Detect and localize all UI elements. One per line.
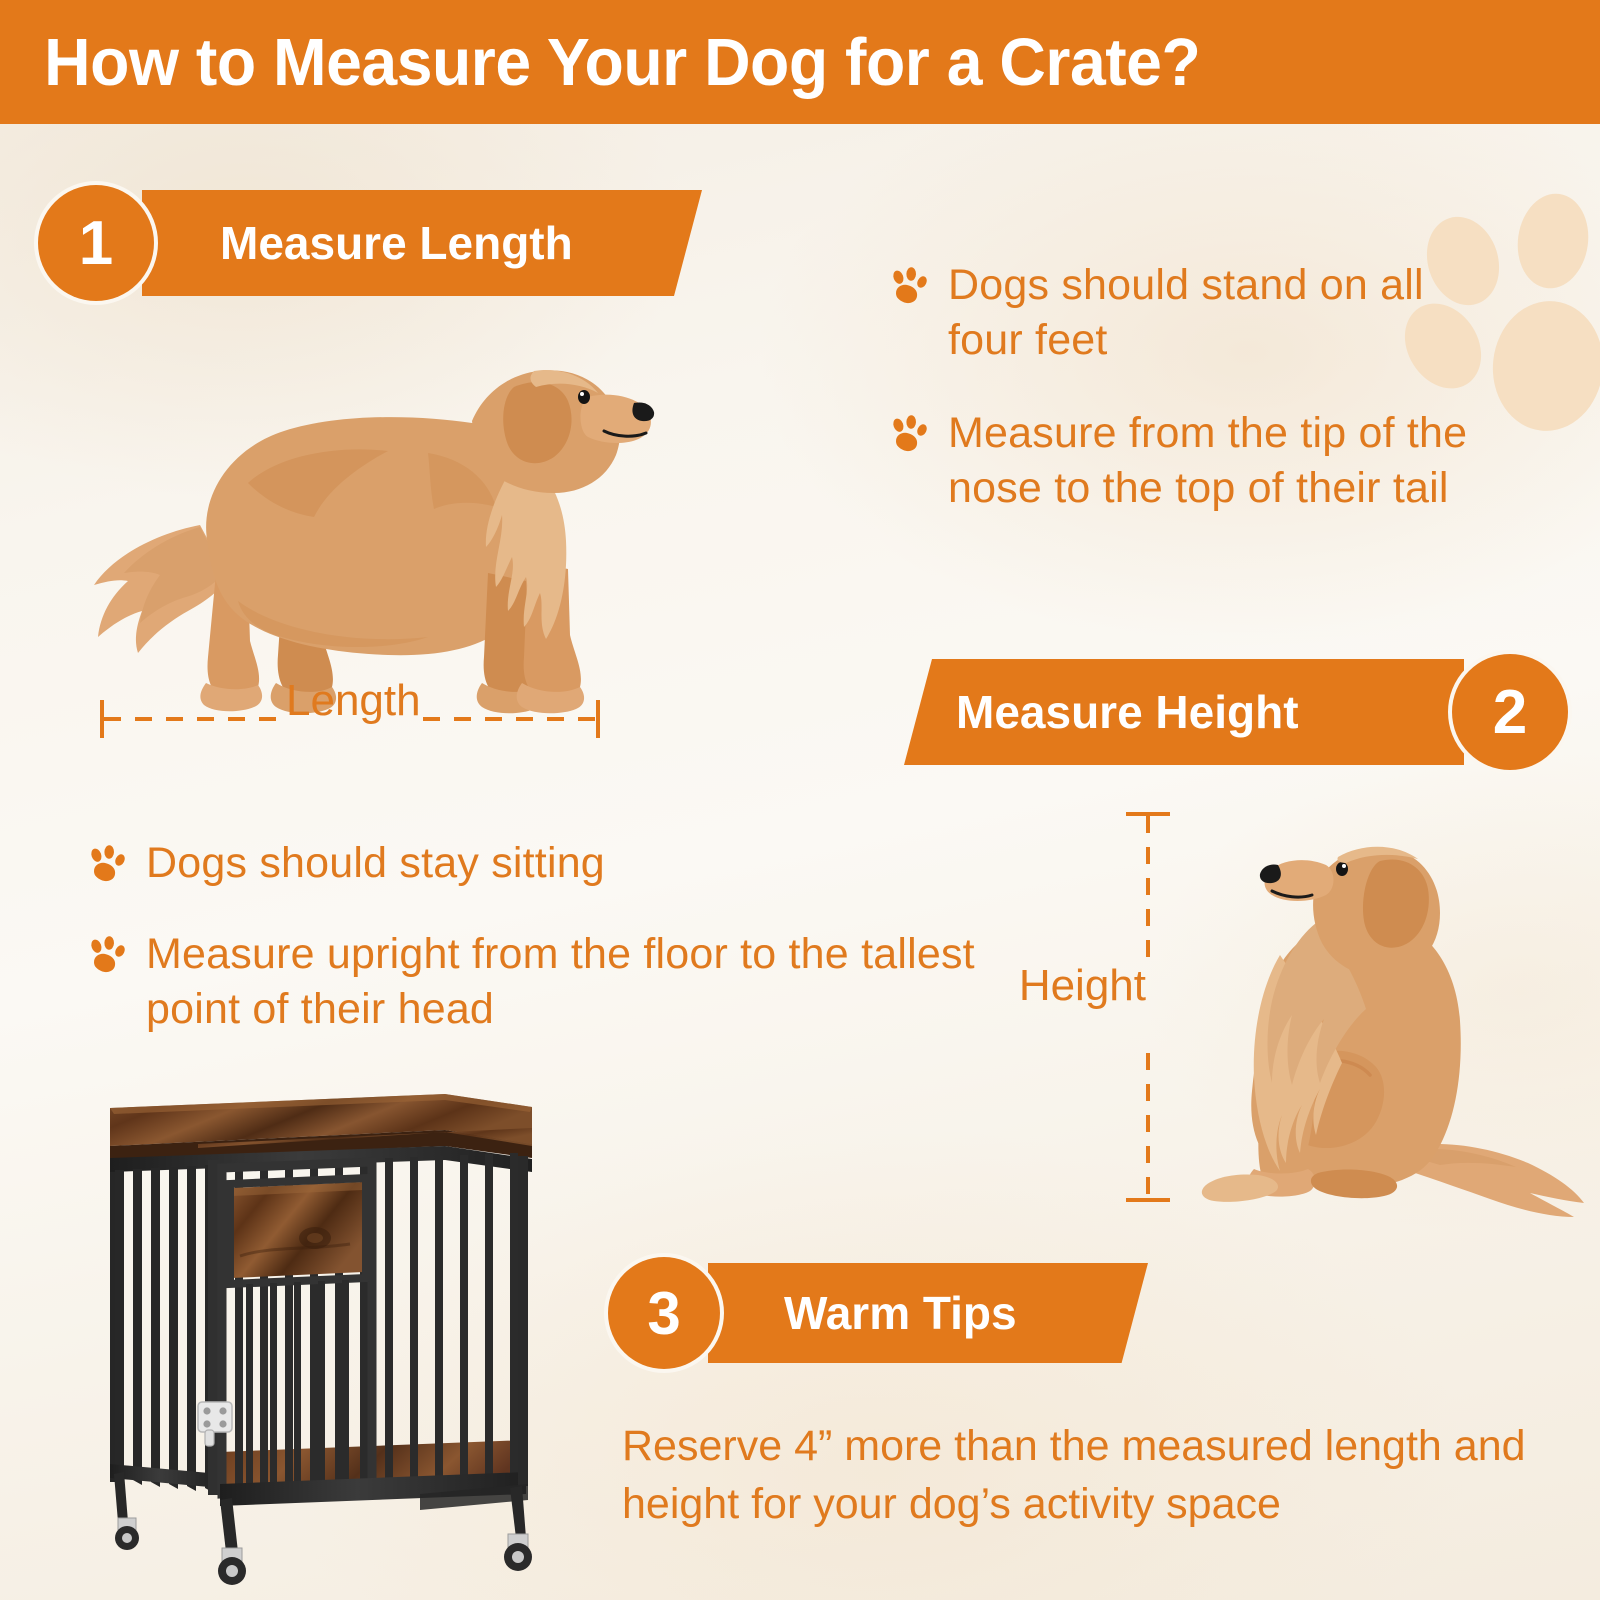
list-item-label: Measure from the tip of the nose to the … — [948, 406, 1498, 516]
dog-crate-furniture-illustration — [80, 1060, 600, 1600]
step-1-plate: Measure Length — [142, 190, 702, 296]
length-dash-left — [104, 717, 287, 721]
step-1-title: Measure Length — [220, 216, 573, 270]
paw-print-icon — [888, 266, 928, 306]
paw-print-icon — [86, 935, 126, 975]
length-dash-right — [423, 717, 596, 721]
crate-caster — [218, 1548, 246, 1585]
paw-print-icon — [888, 414, 928, 454]
step-banner-3: Warm Tips 3 — [608, 1255, 1168, 1375]
step-banner-2: Measure Height 2 — [888, 650, 1568, 774]
list-item: Dogs should stand on all four feet — [888, 258, 1498, 368]
step-2-badge: 2 — [1452, 654, 1568, 770]
length-cap-right — [596, 700, 600, 738]
list-item: Measure from the tip of the nose to the … — [888, 406, 1498, 516]
warm-tip-text: Reserve 4” more than the measured length… — [622, 1418, 1582, 1533]
list-item-label: Dogs should stay sitting — [146, 836, 605, 891]
step-1-badge: 1 — [38, 185, 154, 301]
bullet-list-step-1: Dogs should stand on all four feet Measu… — [888, 258, 1498, 554]
golden-retriever-sitting-illustration — [1130, 795, 1600, 1220]
crate-caster — [115, 1518, 139, 1550]
list-item-label: Dogs should stand on all four feet — [948, 258, 1498, 368]
paw-print-icon — [86, 844, 126, 884]
infographic-page: How to Measure Your Dog for a Crate? Mea… — [0, 0, 1600, 1600]
step-3-plate: Warm Tips — [708, 1263, 1148, 1363]
bullet-list-step-2: Dogs should stay sitting Measure upright… — [86, 836, 986, 1073]
step-3-title: Warm Tips — [784, 1286, 1017, 1340]
page-title: How to Measure Your Dog for a Crate? — [0, 24, 1200, 101]
length-label: Length — [286, 679, 414, 723]
height-label: Height — [1006, 964, 1146, 1008]
crate-caster — [504, 1534, 532, 1571]
step-banner-1: Measure Length 1 — [38, 181, 718, 305]
header-bar: How to Measure Your Dog for a Crate? — [0, 0, 1600, 124]
list-item-label: Measure upright from the floor to the ta… — [146, 927, 986, 1037]
step-3-badge: 3 — [608, 1257, 720, 1369]
step-2-plate: Measure Height — [904, 659, 1464, 765]
list-item: Dogs should stay sitting — [86, 836, 986, 891]
step-2-title: Measure Height — [956, 685, 1299, 739]
list-item: Measure upright from the floor to the ta… — [86, 927, 986, 1037]
golden-retriever-standing-illustration — [88, 305, 658, 715]
length-measurement-indicator: Length — [100, 700, 600, 756]
